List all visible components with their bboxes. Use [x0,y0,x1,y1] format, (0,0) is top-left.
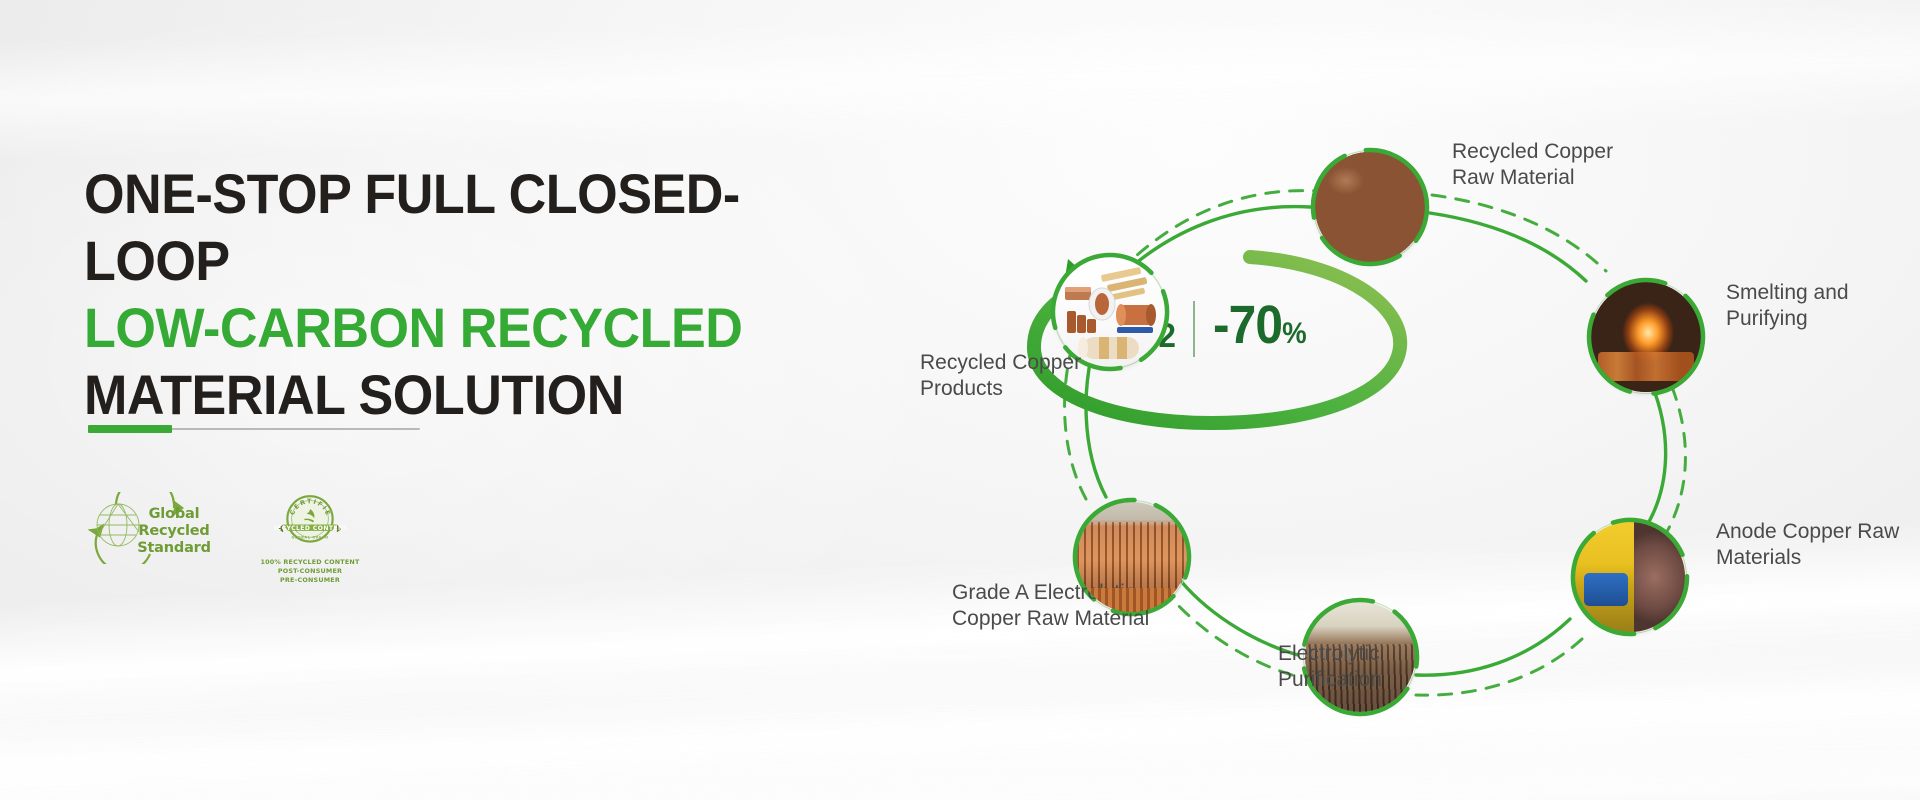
link-raw-to-smelting [1430,213,1586,281]
hero-banner: ONE-STOP FULL CLOSED-LOOP LOW-CARBON REC… [0,0,1920,800]
cycle-node-smelting-and-purifying[interactable] [1584,275,1708,399]
cycle-label-recycled-copper-raw-material: Recycled Copper Raw Material [1452,139,1613,191]
seal-bottom-text: GLOBAL GREEN [292,536,329,540]
svg-text:RECYCLED CONTENT: RECYCLED CONTENT [274,525,346,532]
headline-line-2: LOW-CARBON RECYCLED [84,294,847,361]
global-recycled-standard-logo: Global Recycled Standard [86,492,236,564]
page-title: ONE-STOP FULL CLOSED-LOOP LOW-CARBON REC… [84,160,847,428]
cycle-node-grade-a-electrolytic-copper[interactable] [1070,495,1194,619]
co2-divider [1193,301,1195,357]
headline-block: ONE-STOP FULL CLOSED-LOOP LOW-CARBON REC… [84,160,904,428]
caption-line-2: POST-CONSUMER [258,567,362,576]
certification-badges: Global Recycled Standard CERTIFIED [86,492,362,578]
grs-label: Global Recycled Standard [112,506,236,557]
grs-label-line-2: Standard [112,540,236,557]
progress-bar [88,425,420,433]
cycle-label-anode-copper-raw-materials: Anode Copper Raw Materials [1716,519,1899,571]
cycle-label-electrolytic-purification: Electrolytic Purification [1278,641,1382,693]
caption-line-1: 100% RECYCLED CONTENT [258,558,362,567]
co2-value: -70 [1213,295,1282,355]
link-dashed-top-right [1432,195,1606,271]
node-ring [1308,145,1432,269]
recycled-content-captions: 100% RECYCLED CONTENT POST-CONSUMER PRE-… [258,558,362,585]
cycle-node-anode-copper-raw-materials[interactable] [1568,515,1692,639]
progress-bar-fill [88,425,172,433]
node-ring [1584,275,1708,399]
closed-loop-cycle-diagram: CO2 -70% Recycled Copper Raw Material [930,95,1920,755]
caption-line-3: PRE-CONSUMER [258,576,362,585]
link-smelting-to-anode [1646,385,1666,527]
headline-line-1: ONE-STOP FULL CLOSED-LOOP [84,160,847,294]
certified-seal-icon: CERTIFIED RECYCLED CONTENT GLOBAL GREEN [274,492,346,550]
recycled-content-certified-logo: CERTIFIED RECYCLED CONTENT GLOBAL GREEN … [258,492,362,578]
cycle-label-recycled-copper-products: Recycled Copper Products [920,350,1081,402]
link-dashed-bottom-right [1416,639,1582,695]
co2-value-group: -70% [1213,298,1306,361]
grs-label-line-1: Global Recycled [112,506,236,540]
cycle-node-recycled-copper-raw-material[interactable] [1308,145,1432,269]
cycle-label-smelting-and-purifying: Smelting and Purifying [1726,280,1849,332]
co2-unit: % [1282,317,1306,350]
headline-line-3: MATERIAL SOLUTION [84,361,847,428]
link-anode-to-electrolytic [1416,619,1570,675]
